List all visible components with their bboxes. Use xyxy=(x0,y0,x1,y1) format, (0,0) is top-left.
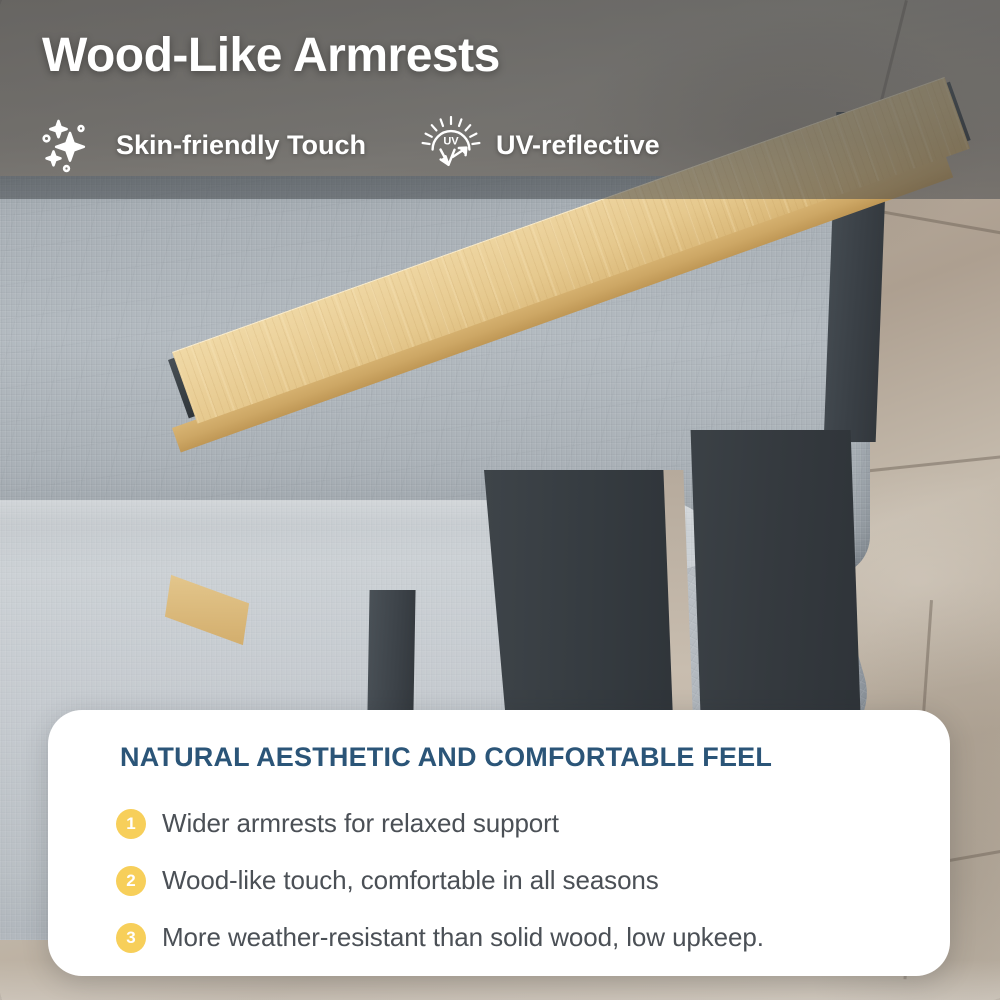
header-banner: Wood-Like Armrests Skin-friendly Touch xyxy=(0,0,1000,199)
feature-badge-label: Skin-friendly Touch xyxy=(116,130,366,161)
list-item: 2 Wood-like touch, comfortable in all se… xyxy=(116,852,924,909)
benefit-list: 1 Wider armrests for relaxed support 2 W… xyxy=(116,795,924,966)
card-title: NATURAL AESTHETIC AND COMFORTABLE FEEL xyxy=(120,742,772,773)
list-item-number-badge: 2 xyxy=(116,866,146,896)
list-item-number-badge: 1 xyxy=(116,809,146,839)
list-item-label: Wider armrests for relaxed support xyxy=(162,808,559,839)
feature-badge-label: UV-reflective xyxy=(496,130,660,161)
product-feature-image: Wood-Like Armrests Skin-friendly Touch xyxy=(0,0,1000,1000)
feature-badge-skin-friendly: Skin-friendly Touch xyxy=(40,116,366,174)
list-item: 3 More weather-resistant than solid wood… xyxy=(116,909,924,966)
list-item: 1 Wider armrests for relaxed support xyxy=(116,795,924,852)
list-item-number-badge: 3 xyxy=(116,923,146,953)
page-title: Wood-Like Armrests xyxy=(42,28,500,83)
sparkles-icon xyxy=(40,116,102,174)
svg-text:UV: UV xyxy=(443,136,459,148)
feature-badge-list: Skin-friendly Touch xyxy=(40,116,660,174)
list-item-label: More weather-resistant than solid wood, … xyxy=(162,922,764,953)
uv-sun-icon: UV xyxy=(420,116,482,174)
feature-badge-uv-reflective: UV UV-reflective xyxy=(420,116,660,174)
feature-card: NATURAL AESTHETIC AND COMFORTABLE FEEL 1… xyxy=(48,710,950,976)
list-item-label: Wood-like touch, comfortable in all seas… xyxy=(162,865,659,896)
